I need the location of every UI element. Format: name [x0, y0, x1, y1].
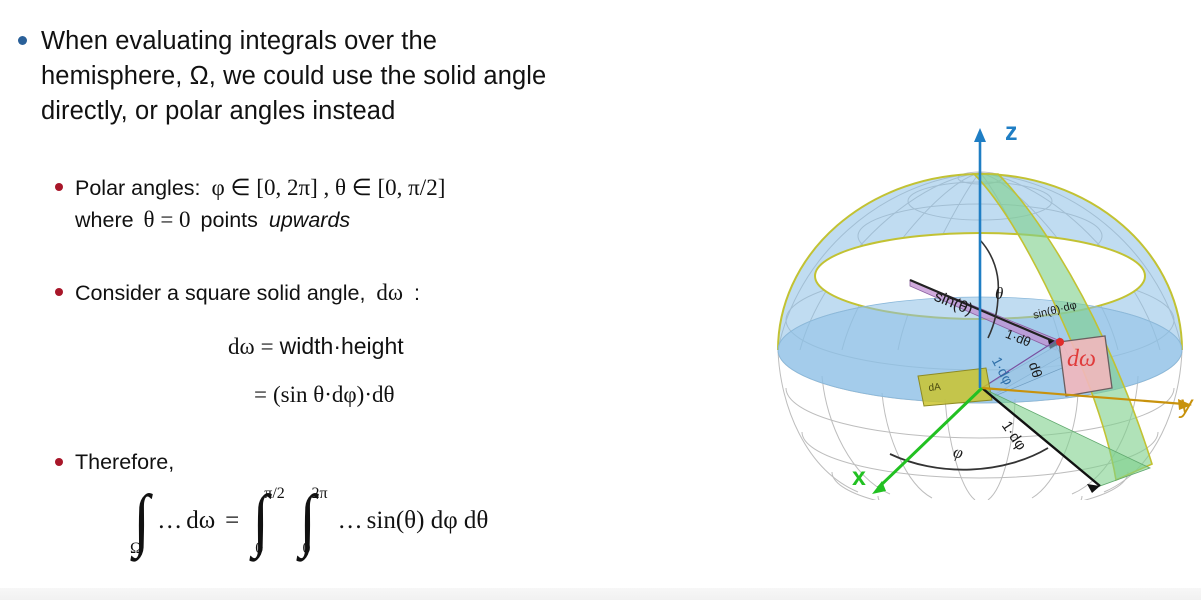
- therefore-text: Therefore,: [75, 447, 174, 478]
- eq2-equals: =: [248, 382, 273, 407]
- bullet-polar-angles-body: Polar angles: φ ∈ [0, 2π] , θ ∈ [0, π/2]…: [75, 172, 445, 236]
- hemisphere-diagram: z y x sin(θ) 1·dθ sin(θ)·dφ dω dθ θ 1·dφ…: [760, 88, 1201, 500]
- axis-label-y: y: [1180, 391, 1193, 420]
- eq1-lhs: dω: [228, 334, 255, 359]
- bullet-dot-red-1: [55, 183, 63, 191]
- bullet-dot-red-3: [55, 458, 63, 466]
- integral-phi-lower: 0: [302, 540, 310, 558]
- bullet-therefore: Therefore,: [55, 447, 174, 478]
- square-solid-angle-text: Consider a square solid angle, dω :: [75, 277, 420, 309]
- integral-theta: ∫ 0 π/2: [251, 492, 270, 550]
- polar-angles-math: φ ∈ [0, 2π] , θ ∈ [0, π/2]: [206, 175, 445, 200]
- polar-angles-theta-zero: θ = 0: [140, 207, 195, 232]
- integral-left-domega: dω: [186, 507, 215, 535]
- label-dA: dA: [928, 382, 941, 394]
- bullet-main: When evaluating integrals over the hemis…: [18, 24, 546, 129]
- bullet-main-text: When evaluating integrals over the hemis…: [41, 24, 546, 129]
- integral-left-dots: …: [153, 507, 186, 535]
- bullet-dot-red-2: [55, 288, 63, 296]
- slide-content: When evaluating integrals over the hemis…: [0, 0, 740, 588]
- equation-sin-dphi-dtheta: =(sin θ·dφ)·dθ: [248, 381, 395, 408]
- square-solid-angle-prefix: Consider a square solid angle,: [75, 281, 365, 305]
- slide-bottom-strip: [0, 588, 1201, 600]
- angle-arc-phi: [890, 448, 1048, 470]
- axis-label-x: x: [852, 463, 866, 492]
- square-solid-angle-colon: :: [409, 281, 420, 305]
- integral-theta-upper: π/2: [264, 485, 285, 503]
- polar-angles-where: where: [75, 208, 134, 232]
- integral-phi-upper: 2π: [311, 485, 327, 503]
- label-theta-angle: θ: [995, 284, 1003, 304]
- axis-label-z: z: [1005, 118, 1018, 147]
- equation-integral: ∫ Ω …dω= ∫ 0 π/2 ∫ 0 2π …sin(θ) dφ dθ: [130, 492, 488, 550]
- integral-right-dots: …: [338, 507, 363, 535]
- equation-domega-width-height: dω=width·height: [228, 333, 404, 360]
- bullet-dot-blue: [18, 36, 27, 45]
- bullet-main-line-3: directly, or polar angles instead: [41, 94, 546, 129]
- integral-right-expr: sin(θ) dφ dθ: [363, 507, 489, 535]
- polar-angles-prefix: Polar angles:: [75, 176, 201, 200]
- eq1-rhs: width·height: [280, 333, 404, 359]
- bullet-main-line-2: hemisphere, Ω, we could use the solid an…: [41, 59, 546, 94]
- eq2-rhs: (sin θ·dφ)·dθ: [273, 382, 395, 407]
- eq1-equals: =: [255, 334, 280, 359]
- bullet-main-line-1: When evaluating integrals over the: [41, 24, 546, 59]
- hemisphere-svg: [760, 88, 1201, 500]
- polar-angles-line-1: Polar angles: φ ∈ [0, 2π] , θ ∈ [0, π/2]: [75, 172, 445, 204]
- slide: When evaluating integrals over the hemis…: [0, 0, 1201, 600]
- integral-omega-lower: Ω: [130, 540, 142, 558]
- integral-theta-lower: 0: [255, 540, 263, 558]
- integral-omega: ∫ Ω: [132, 492, 151, 550]
- point-marker-red: [1056, 338, 1064, 346]
- polar-angles-upwards: upwards: [264, 208, 350, 232]
- integral-phi: ∫ 0 2π: [298, 492, 317, 550]
- label-domega: dω: [1067, 346, 1096, 373]
- bullet-square-solid-angle: Consider a square solid angle, dω :: [55, 277, 420, 309]
- polar-angles-line-2: where θ = 0 points upwards: [75, 204, 445, 236]
- square-solid-angle-domega: dω: [371, 280, 403, 305]
- polar-angles-points: points: [201, 208, 258, 232]
- integral-equals: =: [215, 507, 249, 535]
- bullet-polar-angles: Polar angles: φ ∈ [0, 2π] , θ ∈ [0, π/2]…: [55, 172, 445, 236]
